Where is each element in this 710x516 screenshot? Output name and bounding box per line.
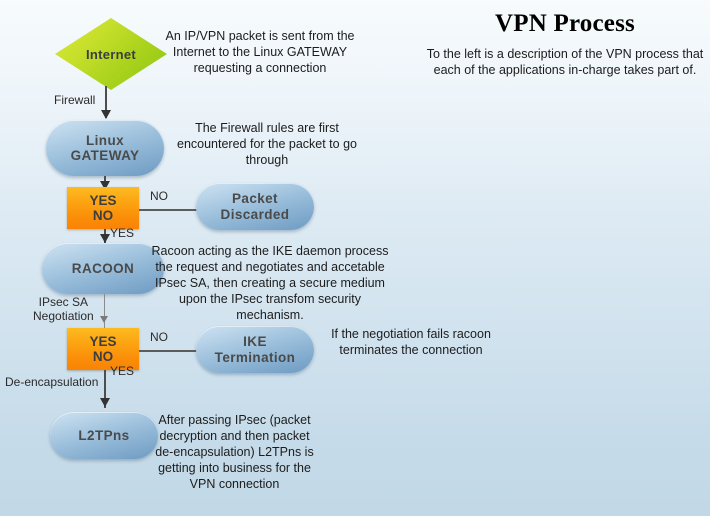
edge-label-ipsec-sa-negotiation: IPsec SA Negotiation <box>33 296 94 324</box>
arrowhead-decision1-racoon <box>100 234 110 243</box>
note-internet: An IP/VPN packet is sent from the Intern… <box>160 28 360 76</box>
decision-firewall-yes: YES <box>89 193 116 208</box>
node-ike-termination[interactable]: IKE Termination <box>196 326 314 373</box>
decision-firewall-pass[interactable]: YES NO <box>67 187 139 229</box>
node-l2tpns[interactable]: L2TPns <box>50 412 158 459</box>
node-racoon-label: RACOON <box>72 261 134 276</box>
node-packet-discarded-label-2: Discarded <box>221 207 290 222</box>
decision-firewall-no: NO <box>93 208 113 223</box>
note-racoon: Racoon acting as the IKE daemon process … <box>150 243 390 323</box>
node-linux-gateway-label-2: GATEWAY <box>71 148 140 163</box>
edge-label-ipsec-sa-line1: IPsec SA <box>39 295 88 309</box>
note-gateway: The Firewall rules are first encountered… <box>172 120 362 168</box>
edge-label-yes-2: YES <box>110 365 134 379</box>
panel-description: To the left is a description of the VPN … <box>424 46 706 79</box>
node-ike-termination-label-2: Termination <box>215 350 296 365</box>
edge-label-no-2: NO <box>150 331 168 345</box>
arrowhead-racoon-decision2 <box>100 316 108 323</box>
decision-ipsec-no: NO <box>93 349 113 364</box>
arrowhead-internet-gateway <box>101 110 111 119</box>
node-racoon[interactable]: RACOON <box>42 243 164 294</box>
node-l2tpns-label: L2TPns <box>78 428 129 443</box>
edge-label-firewall: Firewall <box>54 94 95 108</box>
node-packet-discarded-label-1: Packet <box>221 191 290 206</box>
panel-title: VPN Process <box>430 10 700 38</box>
node-ike-termination-label-1: IKE <box>215 334 296 349</box>
connector-decision2-iketermination <box>139 350 201 352</box>
vpn-process-diagram: VPN Process To the left is a description… <box>0 0 710 516</box>
node-linux-gateway[interactable]: Linux GATEWAY <box>46 120 164 176</box>
node-internet[interactable]: Internet <box>55 18 167 90</box>
node-packet-discarded[interactable]: Packet Discarded <box>196 183 314 230</box>
arrowhead-decision2-l2tpns <box>100 398 110 407</box>
edge-label-de-encapsulation: De-encapsulation <box>5 376 98 390</box>
edge-label-ipsec-sa-line2: Negotiation <box>33 309 94 323</box>
edge-label-no-1: NO <box>150 190 168 204</box>
edge-label-yes-1: YES <box>110 227 134 241</box>
note-ike-termination: If the negotiation fails racoon terminat… <box>316 326 506 358</box>
decision-ipsec-yes: YES <box>89 334 116 349</box>
node-linux-gateway-label-1: Linux <box>71 133 140 148</box>
node-internet-label: Internet <box>86 47 136 62</box>
note-l2tpns: After passing IPsec (packet decryption a… <box>152 412 317 492</box>
connector-decision1-packetdiscarded <box>139 209 205 211</box>
